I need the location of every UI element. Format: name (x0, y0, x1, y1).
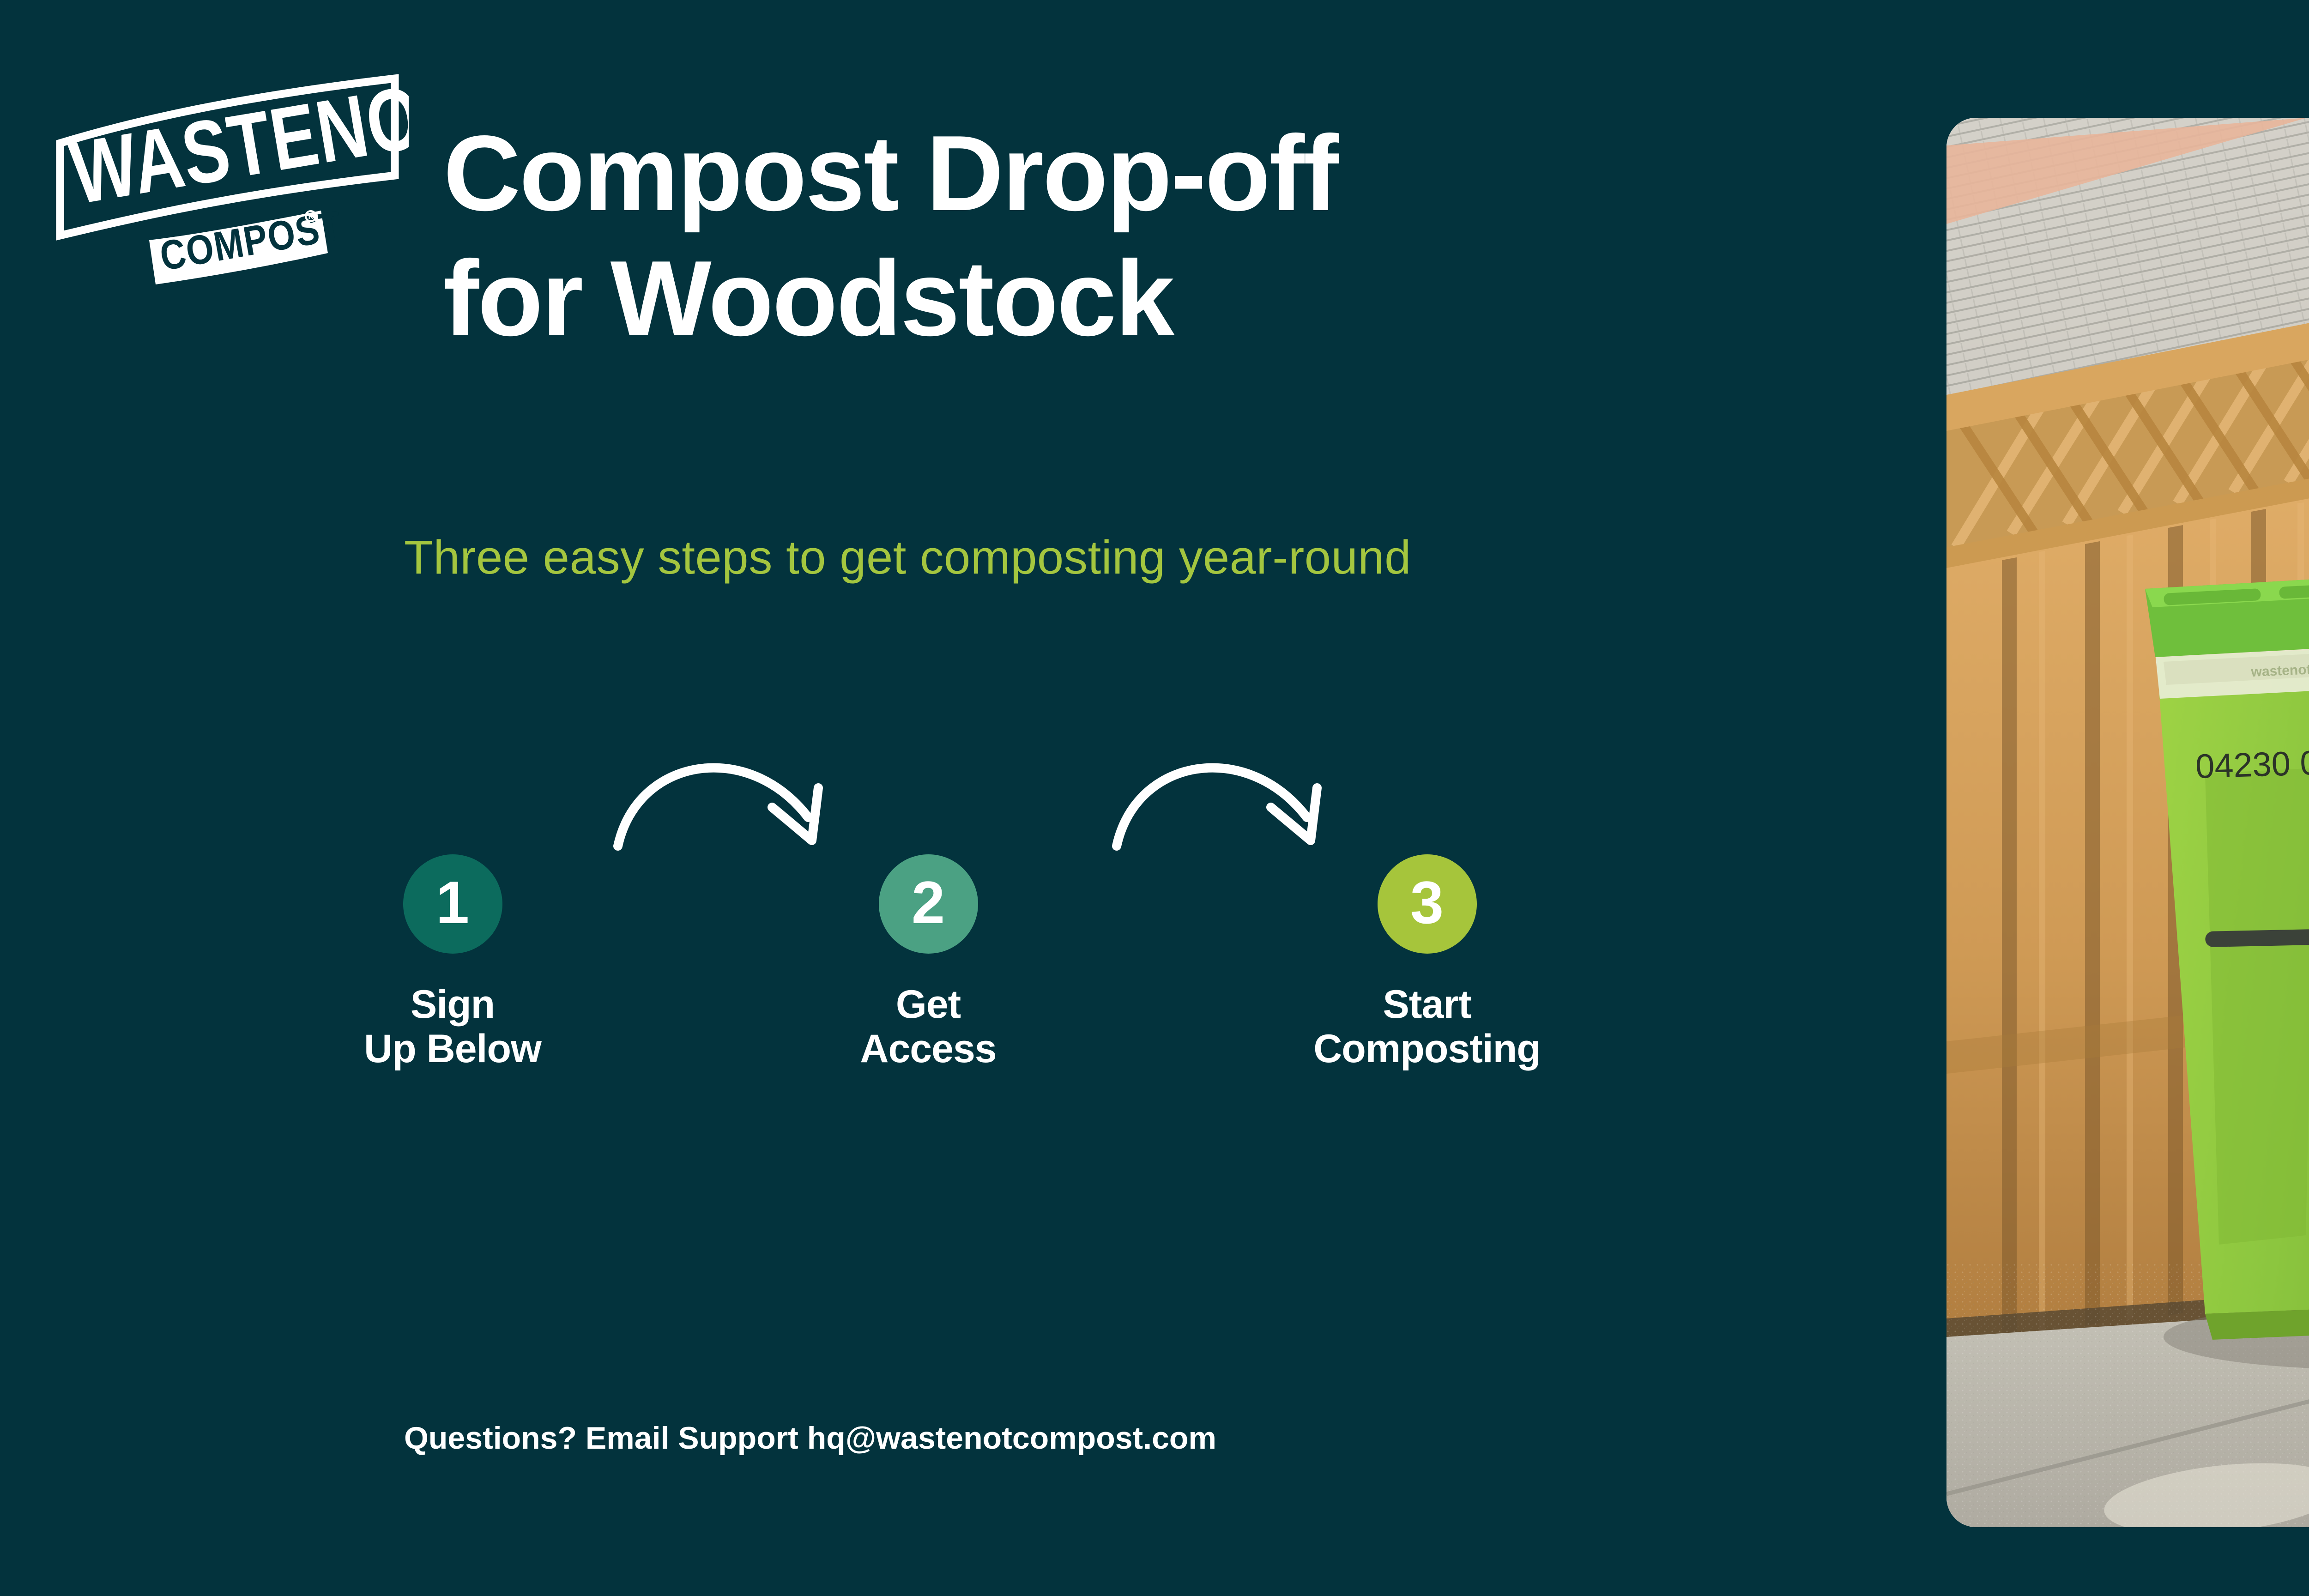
support-email-line[interactable]: Questions? Email Support hq@wastenotcomp… (404, 1420, 1216, 1456)
arrow-step1-to-step2-icon (610, 702, 850, 859)
step-number-badge-2: 2 (879, 854, 978, 954)
step-item-2[interactable]: 2 Get Access (799, 854, 1058, 1071)
headline-line-2: for Woodstock (443, 236, 1875, 361)
page-title: Compost Drop-off for Woodstock (443, 111, 1875, 362)
step-number-3: 3 (1410, 872, 1444, 932)
step-number-badge-3: 3 (1378, 854, 1477, 954)
page-subtitle: Three easy steps to get composting year-… (404, 530, 1882, 585)
compost-cart-photo: wastenotcompost.com 04230 00033 ZERO-EMI… (1946, 118, 2309, 1527)
wastenot-compost-logo[interactable]: WASTENOT COMPOST R (44, 69, 409, 314)
headline-line-1: Compost Drop-off (443, 111, 1875, 236)
step-item-1[interactable]: 1 Sign Up Below (323, 854, 582, 1071)
cart-serial-number: 04230 00033 (2195, 741, 2309, 786)
step-label-1: Sign Up Below (323, 982, 582, 1071)
left-content-column: WASTENOT COMPOST R Compost Drop-off for … (0, 0, 1916, 1596)
arrow-step2-to-step3-icon (1108, 702, 1348, 859)
step-item-3[interactable]: 3 Start Composting (1298, 854, 1556, 1071)
steps-row: 1 Sign Up Below 2 Get Access 3 Start Com… (323, 702, 1838, 1279)
step-number-badge-1: 1 (403, 854, 502, 954)
logo-registered-mark: R (308, 213, 314, 221)
step-number-1: 1 (436, 872, 469, 932)
step-label-2: Get Access (799, 982, 1058, 1071)
step-number-2: 2 (912, 872, 945, 932)
step-label-3: Start Composting (1298, 982, 1556, 1071)
